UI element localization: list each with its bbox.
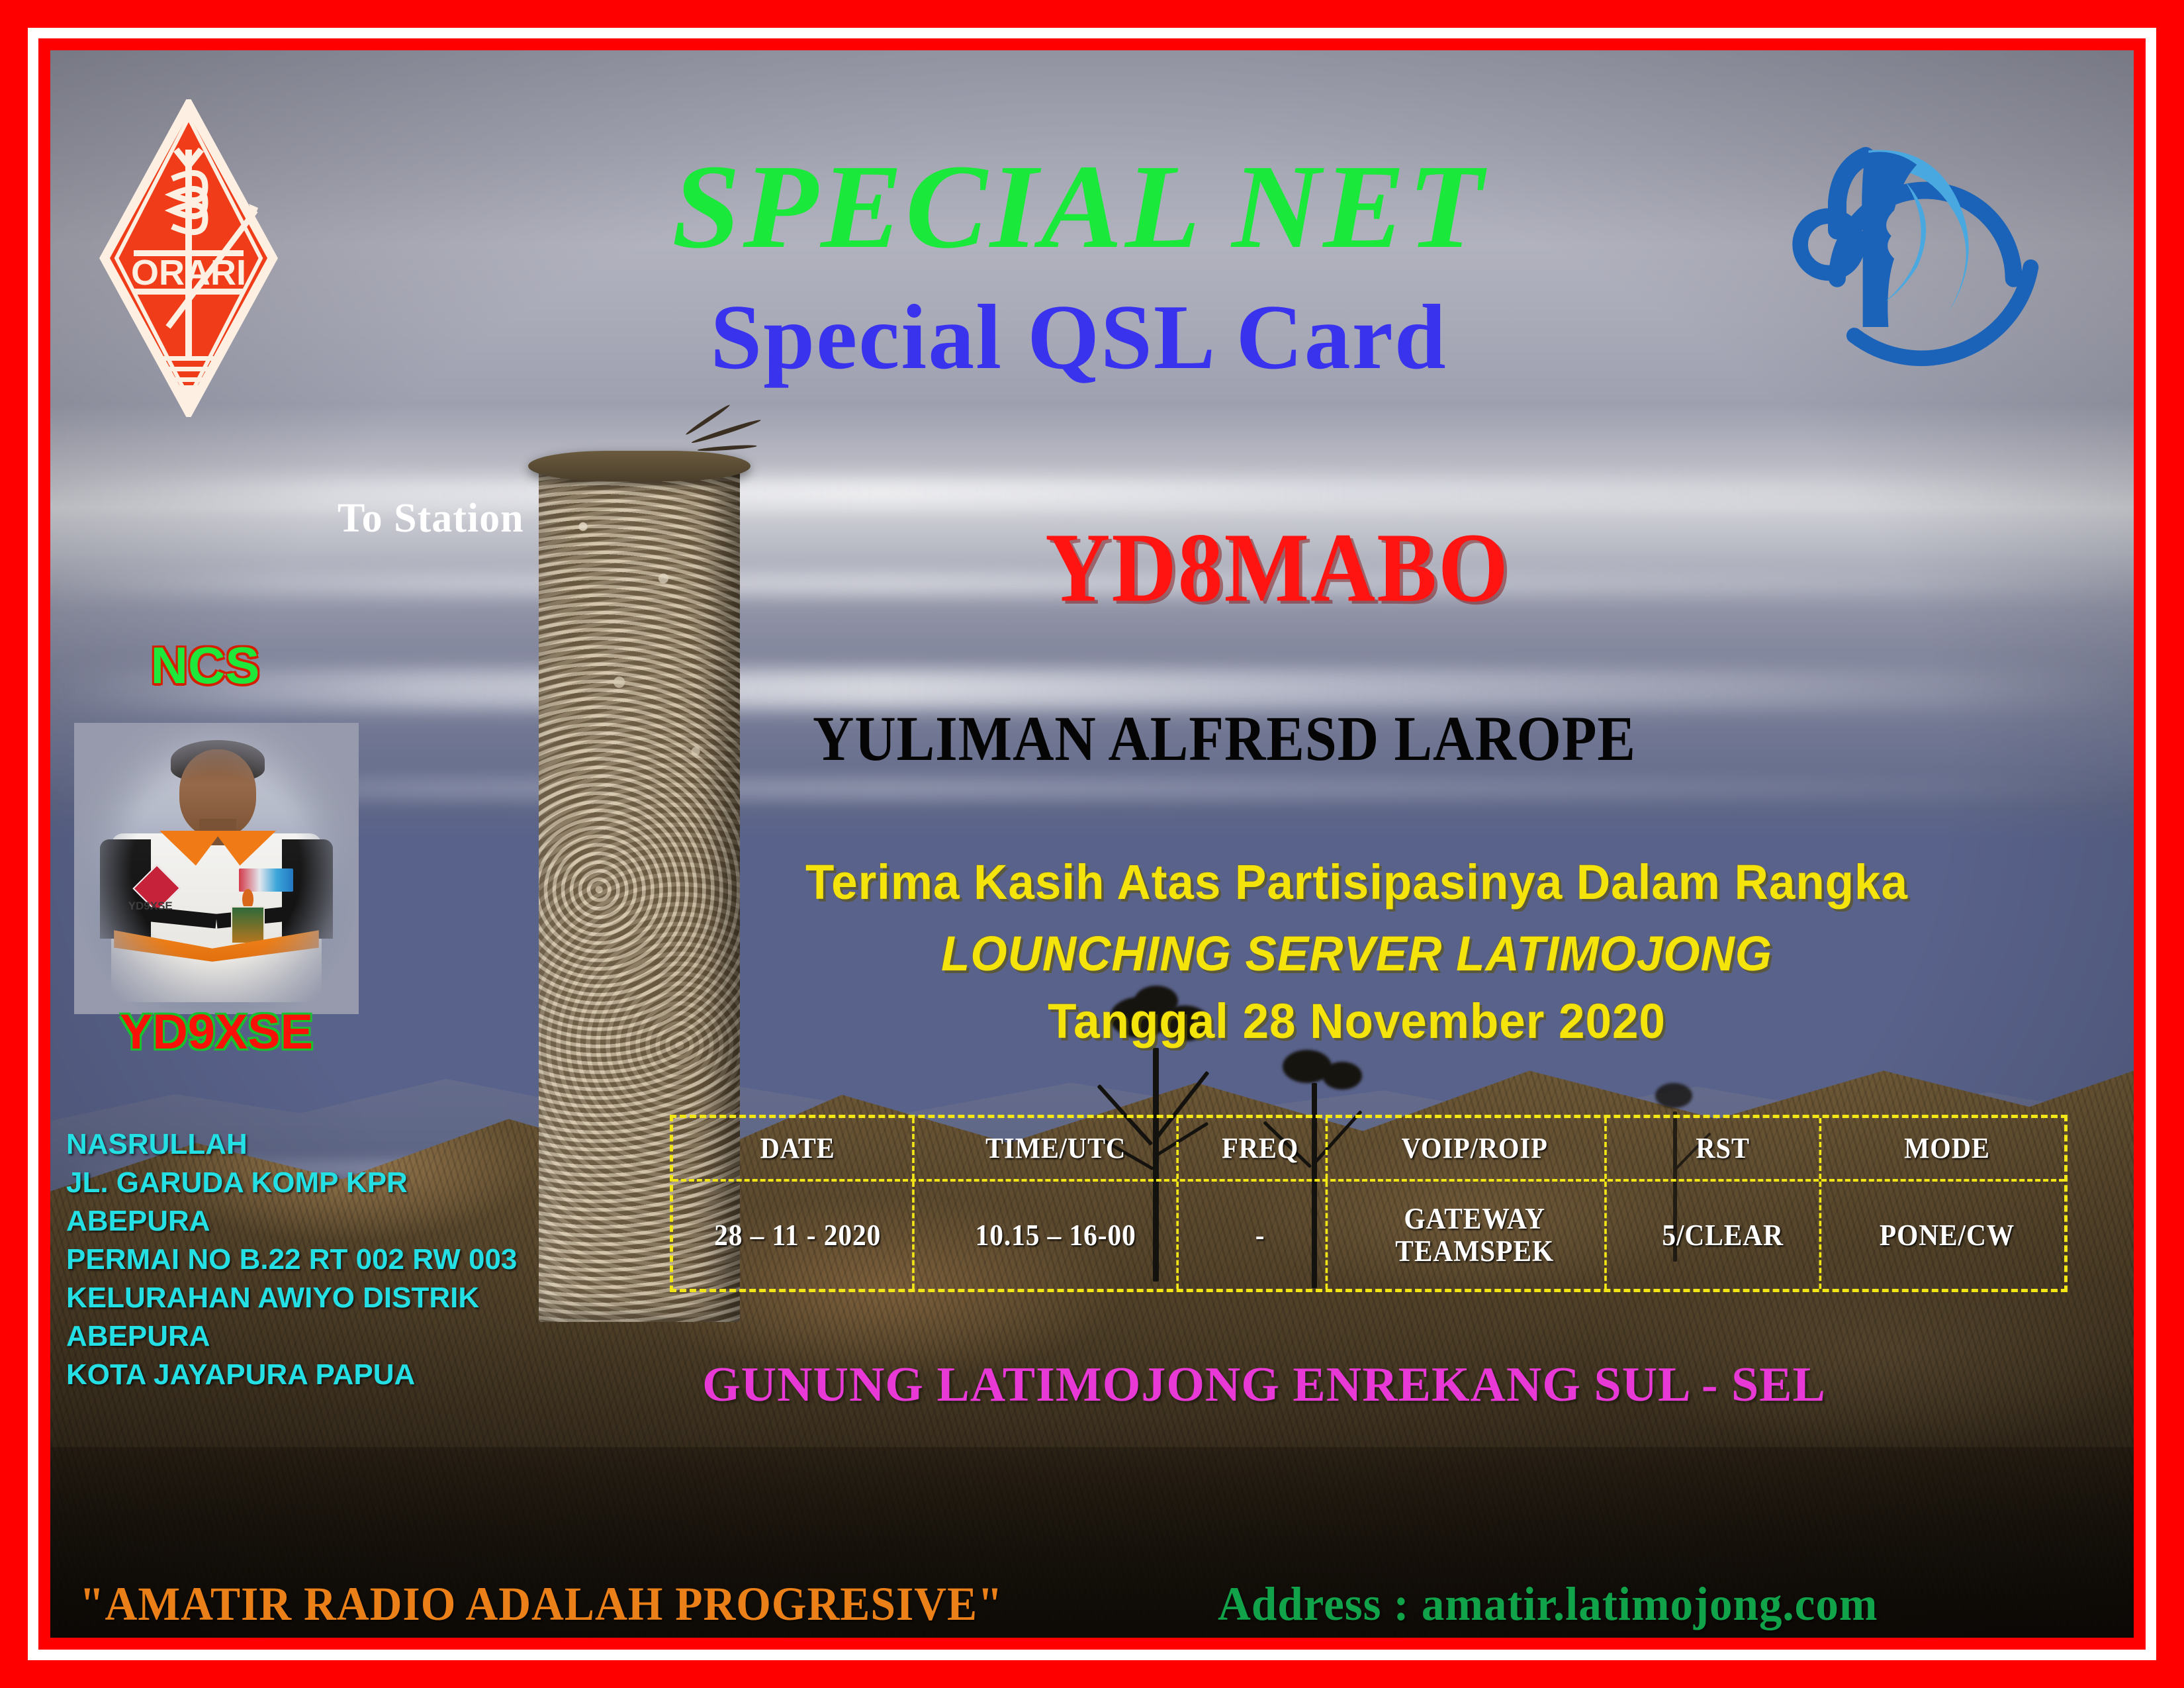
table-header-date: DATE bbox=[683, 1118, 915, 1179]
table-cell-freq: - bbox=[1195, 1182, 1328, 1289]
voip-roip-line-1: GATEWAY bbox=[1404, 1203, 1545, 1235]
address-line: KOTA JAYAPURA PAPUA bbox=[66, 1356, 662, 1394]
table-header-rst: RST bbox=[1627, 1118, 1821, 1179]
page-title-special-net: SPECIAL NET bbox=[410, 147, 1747, 267]
table-header-time-utc: TIME/UTC bbox=[935, 1118, 1179, 1179]
headset-profile-logo bbox=[1780, 99, 2065, 384]
qsl-card: ORARI SPECIAL NET Special QSL Card To St… bbox=[0, 0, 2184, 1688]
event-date-line: Tanggal 28 November 2020 bbox=[721, 993, 1992, 1049]
address-line: NASRULLAH bbox=[66, 1125, 662, 1164]
voip-roip-line-2: TEAMSPEK bbox=[1395, 1235, 1554, 1268]
uniform-callsign-tag: YD9XSE bbox=[128, 900, 197, 912]
ncs-operator-photo: YD9XSE bbox=[74, 723, 359, 1014]
to-station-label: To Station bbox=[338, 495, 524, 542]
address-line: ABEPURA bbox=[66, 1202, 662, 1241]
qso-log-table: DATE TIME/UTC FREQ VOIP/ROIP RST MODE 28… bbox=[670, 1115, 2068, 1292]
station-callsign: YD8MABO bbox=[821, 518, 1734, 618]
table-cell-date: 28 – 11 - 2020 bbox=[683, 1182, 915, 1289]
ncs-callsign: YD9XSE bbox=[74, 1004, 359, 1060]
table-cell-voip-roip: GATEWAY TEAMSPEK bbox=[1345, 1182, 1607, 1289]
table-header-freq: FREQ bbox=[1195, 1118, 1328, 1179]
table-cell-mode: PONE/CW bbox=[1839, 1182, 2055, 1289]
address-line: KELURAHAN AWIYO DISTRIK bbox=[66, 1279, 662, 1317]
page-subtitle-qsl-card: Special QSL Card bbox=[424, 291, 1734, 384]
address-line: ABEPURA bbox=[66, 1317, 662, 1356]
location-text: GUNUNG LATIMOJONG ENREKANG SUL - SEL bbox=[635, 1357, 1893, 1413]
mailing-address: NASRULLAH JL. GARUDA KOMP KPR ABEPURA PE… bbox=[66, 1125, 662, 1395]
ncs-label: NCS bbox=[126, 635, 285, 696]
table-cell-time-utc: 10.15 – 16-00 bbox=[935, 1182, 1179, 1289]
address-line: JL. GARUDA KOMP KPR bbox=[66, 1164, 662, 1202]
footer-motto: "AMATIR RADIO ADALAH PROGRESIVE" bbox=[79, 1577, 1003, 1632]
footer-web-address: Address : amatir.latimojong.com bbox=[1218, 1577, 1878, 1632]
event-name-line: LOUNCHING SERVER LATIMOJONG bbox=[721, 925, 1992, 982]
event-thanks-line: Terima Kasih Atas Partisipasinya Dalam R… bbox=[721, 854, 1992, 910]
svg-text:ORARI: ORARI bbox=[131, 253, 246, 293]
operator-name: YULIMAN ALFRESD LAROPE bbox=[718, 707, 1731, 771]
table-cell-rst: 5/CLEAR bbox=[1627, 1182, 1821, 1289]
table-header-mode: MODE bbox=[1839, 1118, 2055, 1179]
table-row: 28 – 11 - 2020 10.15 – 16-00 - GATEWAY T… bbox=[673, 1182, 2064, 1289]
address-line: PERMAI NO B.22 RT 002 RW 003 bbox=[66, 1241, 662, 1279]
table-header-row: DATE TIME/UTC FREQ VOIP/ROIP RST MODE bbox=[673, 1118, 2064, 1182]
orari-logo: ORARI bbox=[99, 99, 278, 417]
table-header-voip-roip: VOIP/ROIP bbox=[1345, 1118, 1607, 1179]
